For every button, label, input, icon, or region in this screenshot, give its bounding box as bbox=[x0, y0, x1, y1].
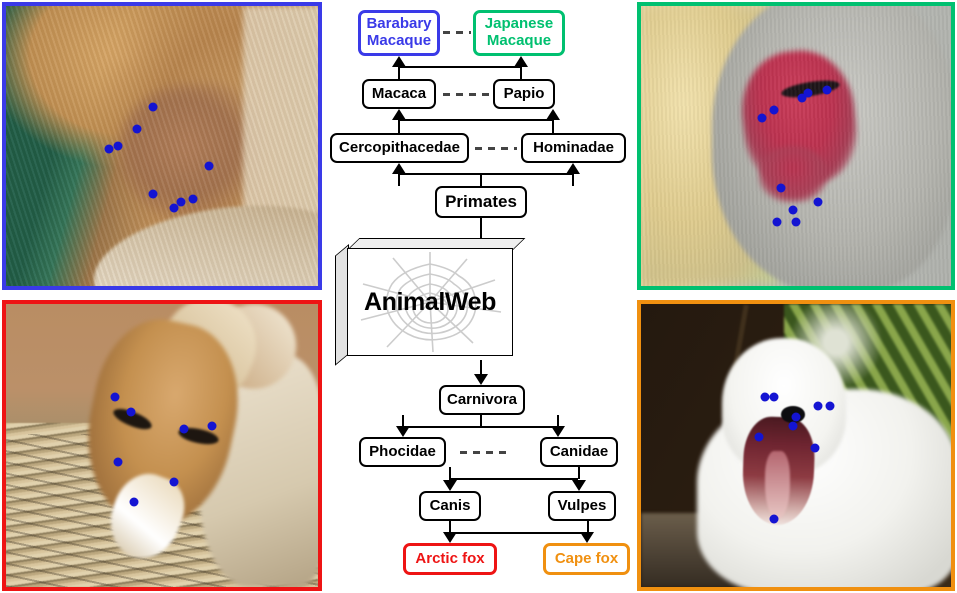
photo-border-red bbox=[2, 300, 322, 591]
edge-line bbox=[449, 478, 578, 480]
dashed-connector-family-primates bbox=[475, 147, 517, 150]
animalweb-label: AnimalWeb bbox=[348, 249, 512, 355]
edge-line bbox=[398, 174, 400, 186]
node-phocidae[interactable]: Phocidae bbox=[359, 437, 446, 467]
arrow-head-down bbox=[443, 532, 457, 543]
edge-line bbox=[398, 120, 400, 133]
node-vulpes[interactable]: Vulpes bbox=[548, 491, 616, 521]
node-canis[interactable]: Canis bbox=[419, 491, 481, 521]
arrow-head-down bbox=[580, 532, 594, 543]
edge-line bbox=[480, 360, 482, 374]
photo-border-blue bbox=[2, 2, 322, 290]
node-arctic-fox[interactable]: Arctic fox bbox=[403, 543, 497, 575]
arrow-head-down bbox=[572, 480, 586, 491]
node-canidae[interactable]: Canidae bbox=[540, 437, 618, 467]
photo-border-green bbox=[637, 2, 955, 290]
animalweb-box-front-face: AnimalWeb bbox=[347, 248, 513, 356]
photo-border-orange bbox=[637, 300, 955, 591]
node-barabary-macaque[interactable]: Barabary Macaque bbox=[358, 10, 440, 56]
photo-barbary-macaque bbox=[2, 2, 322, 290]
node-carnivora[interactable]: Carnivora bbox=[439, 385, 525, 415]
edge-line bbox=[552, 120, 554, 133]
node-cercopithacedae[interactable]: Cercopithacedae bbox=[330, 133, 469, 163]
edge-line bbox=[402, 426, 558, 428]
dashed-connector-species-primates bbox=[443, 31, 471, 34]
photo-cape-fox bbox=[2, 300, 322, 591]
arrow-head-down bbox=[443, 480, 457, 491]
animalweb-box[interactable]: AnimalWeb bbox=[335, 238, 513, 360]
edge-line bbox=[578, 467, 580, 479]
edge-line bbox=[398, 173, 573, 175]
node-macaca[interactable]: Macaca bbox=[362, 79, 436, 109]
dashed-connector-genus-primates bbox=[443, 93, 489, 96]
node-papio[interactable]: Papio bbox=[493, 79, 555, 109]
edge-line bbox=[480, 173, 482, 186]
arrow-head-down bbox=[551, 426, 565, 437]
dashed-connector-family-carnivora bbox=[460, 451, 508, 454]
photo-arctic-fox bbox=[637, 300, 955, 591]
node-primates[interactable]: Primates bbox=[435, 186, 527, 218]
arrow-head-down bbox=[396, 426, 410, 437]
edge-line bbox=[572, 174, 574, 186]
edge-line bbox=[480, 218, 482, 238]
arrow-head-down bbox=[474, 374, 488, 385]
node-cape-fox[interactable]: Cape fox bbox=[543, 543, 630, 575]
photo-japanese-macaque bbox=[637, 2, 955, 290]
taxonomy-diagram: Barabary Macaque Japanese Macaque Macaca… bbox=[325, 0, 635, 593]
edge-line bbox=[520, 67, 522, 79]
edge-line bbox=[398, 119, 553, 121]
node-hominadae[interactable]: Hominadae bbox=[521, 133, 626, 163]
edge-line bbox=[398, 67, 400, 79]
edge-line bbox=[398, 66, 521, 68]
edge-line bbox=[449, 532, 587, 534]
node-japanese-macaque[interactable]: Japanese Macaque bbox=[473, 10, 565, 56]
